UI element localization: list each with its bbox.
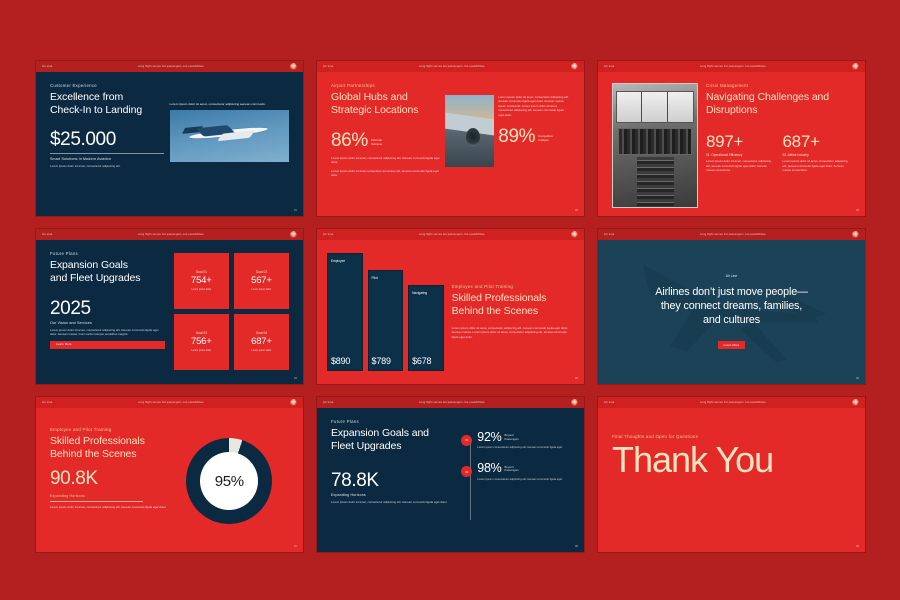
airline-compass-logo-icon [852,231,859,238]
slide-2-stat-b: 89% [498,127,535,146]
slide-thumbnail-7[interactable]: Air Line Long flight serves hot passenge… [36,397,303,552]
slide-deck-grid: Air Line Long flight serves hot passenge… [36,61,864,540]
slide-5-eyebrow: Employee and Pilot Training [452,284,570,289]
slide-2-stat-a-label: PotentialOutcome [371,139,382,150]
slide-4-headline: Expansion Goalsand Fleet Upgrades [50,259,165,285]
donut-chart-value: 95% [215,473,244,490]
slide-thumbnail-3[interactable]: Air Line Long flight serves hot passenge… [598,61,865,216]
goal-card-value: 754+ [191,276,212,286]
goal-card-sub: Lorem ipsum dolor [252,288,272,291]
goal-card-title: Goal 03 [196,331,207,335]
slide-3-stat-b-body: Lorem ipsum dolor sit amet, consectetur … [783,159,851,173]
slide-2-stat-b-row: 89% CompetitiveAnalysis [498,127,570,146]
nav-center: Long flight serves hot passengers, but p… [52,65,290,68]
airline-compass-logo-icon [852,399,859,406]
slide-4-stat-sub: Our Vision and Services [50,321,165,325]
nav-center: Long flight serves hot passengers, but p… [52,401,290,404]
goal-card-title: Goal 01 [196,270,207,274]
bar-label: Pilot [372,276,400,280]
slide-7-stat-sub: Expanding Horizons [50,494,170,498]
slide-3-right-column: Crisis Management Navigating Challenges … [706,83,851,208]
donut-chart: 95% [186,438,272,524]
slide-6-page-number: 06 [856,376,859,380]
slide-3-stat-b-value: 687+ [783,133,851,150]
bar-value: $890 [331,356,359,366]
bar-value: $678 [412,356,440,366]
bar-chart: Employee $890 Pilot $789 Navigating $678 [327,251,444,376]
slide-thumbnail-2[interactable]: Air Line Long flight serves hot passenge… [317,61,584,216]
slide-2-image-column [441,83,498,208]
slide-1-page-number: 01 [294,208,297,212]
slide-thumbnail-6[interactable]: Air Line Long flight serves hot passenge… [598,229,865,384]
slide-9-title: Thank You [612,442,851,478]
timeline-value: 92% [477,431,501,444]
donut-chart-center: 95% [200,452,258,510]
slide-4-goal-cards: Goal 01 754+ Lorem ipsum dolor Goal 02 5… [174,251,289,376]
airline-compass-logo-icon [571,231,578,238]
slide-3-stat-a: 897+ 01. Operational Efficiency Lorem ip… [706,133,774,173]
slide-5-headline: Skilled ProfessionalsBehind the Scenes [452,292,570,318]
slide-7-eyebrow: Employee and Pilot Training [50,427,170,432]
slide-nav: Air Line Long flight serves hot passenge… [598,397,865,408]
slide-1-stat: $25.000 [50,130,164,149]
slide-2-right-column: Lorem ipsum dolor sit amet, consectetur … [498,83,570,208]
airplane-engine-on-runway-photo [445,95,494,167]
slide-7-chart-column: 95% [170,419,290,544]
slide-9-page-number: 09 [856,544,859,548]
slide-body: Crisis Management Navigating Challenges … [598,72,865,216]
slide-3-stat-b: 687+ 02. Airline Industry Lorem ipsum do… [783,133,851,173]
slide-6-quote: Airlines don’t just move people—they con… [655,285,807,327]
slide-7-page-number: 07 [294,544,297,548]
slide-2-page-number: 02 [575,208,578,212]
nav-center: Long flight serves hot passengers, but p… [614,233,852,236]
slide-2-eyebrow: Airport Partnerships [331,83,441,88]
slide-8-eyebrow: Future Plans [331,419,455,424]
slide-thumbnail-1[interactable]: Air Line Long flight serves hot passenge… [36,61,303,216]
nav-brand: Air Line [604,233,614,236]
slide-8-body: Lorem ipsum dolor sit amet, consectetur … [331,500,455,505]
nav-center: Long flight serves hot passengers, but p… [52,233,290,236]
slide-4-eyebrow: Future Plans [50,251,165,256]
slide-4-stat: 2025 [50,299,165,318]
slide-4-body: Lorem ipsum dolor sit amet, consectetur … [50,328,165,337]
slide-body: Future Plans Expansion Goalsand Fleet Up… [36,240,303,384]
slide-3-page-number: 03 [856,208,859,212]
goal-card-sub: Lorem ipsum dolor [252,349,272,352]
slide-1-stat-sub: Smart Solutions in Modern Aviation [50,157,164,161]
slide-nav: Air Line Long flight serves hot passenge… [598,229,865,240]
timeline-value: 98% [477,462,501,475]
slide-body: Air Line Airlines don’t just move people… [598,240,865,384]
slide-nav: Air Line Long flight serves hot passenge… [36,229,303,240]
slide-2-stat-b-label: CompetitiveAnalysis [538,135,553,146]
slide-9-eyebrow: Final Thoughts and Open for Questions [612,434,851,439]
divider [50,501,143,502]
goal-card[interactable]: Goal 03 756+ Lorem ipsum dolor [174,314,229,370]
slide-2-side-text: Lorem ipsum dolor sit amet, consectetur … [498,95,570,118]
timeline-item: 02 98% BeyondPassengers Lorem ipsum cons… [461,462,570,482]
goal-card[interactable]: Goal 02 567+ Lorem ipsum dolor [234,253,289,309]
nav-center: Long flight serves hot passengers, but p… [333,401,571,404]
slide-5-body: Lorem ipsum dolor sit amet, consectetur … [452,326,570,340]
slide-7-body: Lorem ipsum dolor sit amet, consectetur … [50,505,170,510]
slide-2-stat-a-row: 86% PotentialOutcome [331,131,441,150]
slide-8-timeline: 01 92% BeyondPassengers Lorem ipsum cons… [461,419,570,544]
nav-brand: Air Line [604,401,614,404]
timeline-label: BeyondPassengers [505,466,519,475]
slide-1-headline: Excellence fromCheck-In to Landing [50,91,164,117]
bar-chart-bar: Navigating $678 [408,285,444,370]
slide-2-left-column: Airport Partnerships Global Hubs andStra… [331,83,441,208]
slide-thumbnail-9[interactable]: Air Line Long flight serves hot passenge… [598,397,865,552]
nav-brand: Air Line [42,233,52,236]
goal-card-sub: Lorem ipsum dolor [191,288,211,291]
bar-value: $789 [372,356,400,366]
slide-3-stat-a-value: 897+ [706,133,774,150]
slide-2-body-1: Lorem ipsum dolor sit amet, consectetur … [331,156,441,165]
slide-3-eyebrow: Crisis Management [706,83,851,88]
slide-1-image-caption: Lorem ipsum dolor sit amet, consectetur … [170,102,290,106]
bar-label: Employee [331,259,359,263]
goal-card-title: Goal 04 [256,331,267,335]
slide-nav: Air Line Long flight serves hot passenge… [36,61,303,72]
timeline-text: Lorem ipsum consectetuer adipiscing elit… [477,446,570,450]
slide-1-left-column: Customer Experience Excellence fromCheck… [50,83,170,208]
slide-thumbnail-4[interactable]: Air Line Long flight serves hot passenge… [36,229,303,384]
nav-center: Long flight serves hot passengers, but p… [614,401,852,404]
nav-center: Long flight serves hot passengers, but p… [614,65,852,68]
goal-card-value: 687+ [251,337,272,347]
slide-8-stat-sub: Expanding Horizons [331,493,455,497]
slide-6-cta-button[interactable]: Learn More [718,341,746,349]
timeline-item: 01 92% BeyondPassengers Lorem ipsum cons… [461,431,570,451]
slide-7-stat: 90.8K [50,469,170,488]
slide-body: Customer Experience Excellence fromCheck… [36,72,303,216]
bar-chart-bar: Pilot $789 [368,270,404,371]
slide-8-page-number: 08 [575,544,578,548]
airliner-in-flight-photo [170,110,290,162]
timeline-marker: 02 [461,466,472,477]
slide-8-stat: 78.8K [331,471,455,490]
slide-1-eyebrow: Customer Experience [50,83,164,88]
bar-label: Navigating [412,291,440,295]
slide-body: Employee and Pilot Training Skilled Prof… [36,408,303,552]
slide-5-page-number: 05 [575,376,578,380]
slide-8-headline: Expansion Goals andFleet Upgrades [331,427,455,453]
airline-compass-logo-icon [852,63,859,70]
airline-compass-logo-icon [290,63,297,70]
aircraft-cockpit-photo [612,83,698,208]
slide-4-page-number: 04 [294,376,297,380]
nav-brand: Air Line [604,65,614,68]
goal-card-value: 567+ [251,276,272,286]
slide-3-stat-a-label: 01. Operational Efficiency [706,153,774,157]
slide-4-cta-button[interactable]: Learn More [50,341,165,349]
slide-2-body-2: Lorem ipsum dolor sit amet consectetur a… [331,169,441,178]
goal-card[interactable]: Goal 01 754+ Lorem ipsum dolor [174,253,229,309]
slide-2-headline: Global Hubs andStrategic Locations [331,91,441,117]
nav-brand: Air Line [42,65,52,68]
slide-nav: Air Line Long flight serves hot passenge… [36,397,303,408]
nav-brand: Air Line [323,65,333,68]
slide-7-left-column: Employee and Pilot Training Skilled Prof… [50,419,170,544]
slide-body: Airport Partnerships Global Hubs andStra… [317,72,584,216]
nav-brand: Air Line [323,233,333,236]
slide-4-left-column: Future Plans Expansion Goalsand Fleet Up… [50,251,165,376]
slide-6-eyebrow: Air Line [726,274,738,278]
slide-1-right-column: Lorem ipsum dolor sit amet, consectetur … [170,83,290,208]
slide-3-headline: Navigating Challenges andDisruptions [706,91,851,117]
slide-body: Future Plans Expansion Goals andFleet Up… [317,408,584,552]
slide-3-stat-a-body: Lorem ipsum dolor sit amet, consectetur … [706,159,774,173]
slide-1-body: Lorem ipsum dolor sit amet, consectetur … [50,164,164,169]
airline-compass-logo-icon [571,399,578,406]
slide-thumbnail-5[interactable]: Air Line Long flight serves hot passenge… [317,229,584,384]
slide-5-right-column: Employee and Pilot Training Skilled Prof… [452,251,570,376]
nav-brand: Air Line [42,401,52,404]
nav-center: Long flight serves hot passengers, but p… [333,65,571,68]
slide-2-stat-a: 86% [331,131,368,150]
timeline-label: BeyondPassengers [505,434,519,443]
bar-chart-bar: Employee $890 [327,253,363,371]
timeline-marker: 01 [461,435,472,446]
slide-nav: Air Line Long flight serves hot passenge… [317,61,584,72]
slide-nav: Air Line Long flight serves hot passenge… [317,229,584,240]
timeline-text: Lorem ipsum consectetuer adipiscing elit… [477,478,570,482]
slide-thumbnail-8[interactable]: Air Line Long flight serves hot passenge… [317,397,584,552]
nav-center: Long flight serves hot passengers, but p… [333,233,571,236]
goal-card[interactable]: Goal 04 687+ Lorem ipsum dolor [234,314,289,370]
goal-card-sub: Lorem ipsum dolor [191,349,211,352]
slide-nav: Air Line Long flight serves hot passenge… [317,397,584,408]
nav-brand: Air Line [323,401,333,404]
airline-compass-logo-icon [571,63,578,70]
slide-body: Final Thoughts and Open for Questions Th… [598,408,865,552]
divider [50,153,164,154]
goal-card-title: Goal 02 [256,270,267,274]
airline-compass-logo-icon [290,399,297,406]
slide-nav: Air Line Long flight serves hot passenge… [598,61,865,72]
slide-body: Employee $890 Pilot $789 Navigating $678… [317,240,584,384]
airline-compass-logo-icon [290,231,297,238]
slide-8-left-column: Future Plans Expansion Goals andFleet Up… [331,419,455,544]
slide-7-headline: Skilled ProfessionalsBehind the Scenes [50,435,170,461]
goal-card-value: 756+ [191,337,212,347]
slide-3-stat-b-label: 02. Airline Industry [783,153,851,157]
